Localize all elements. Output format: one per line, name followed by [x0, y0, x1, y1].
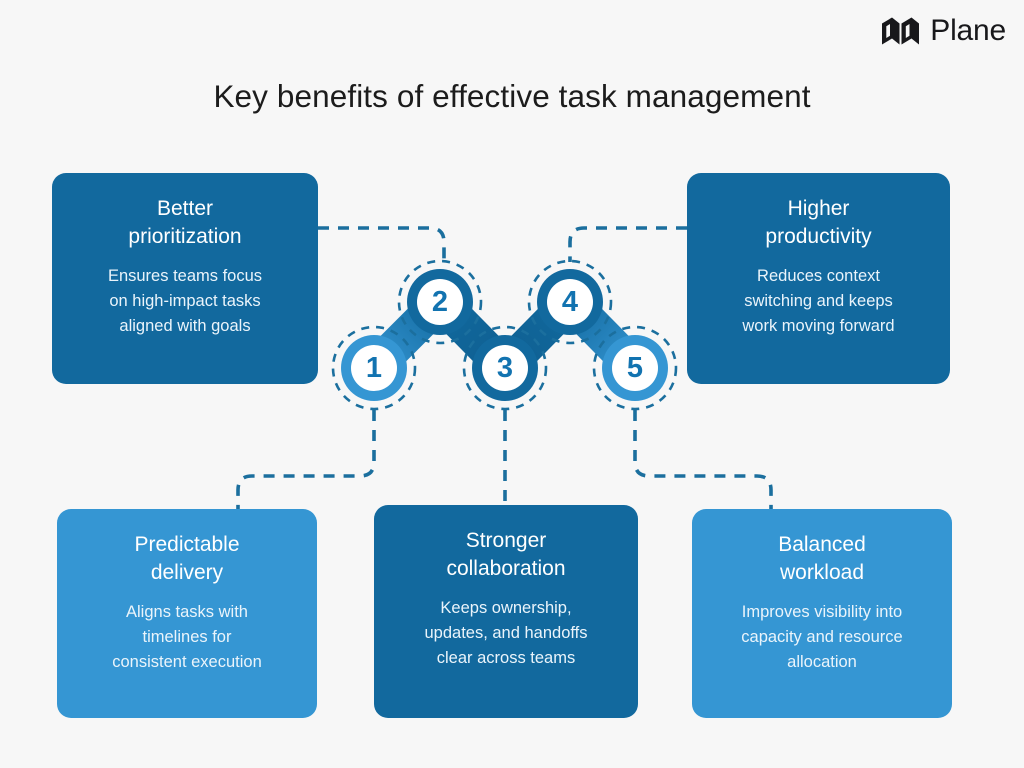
benefit-card-description: Improves visibility into capacity and re…	[741, 600, 902, 675]
step-node-5[interactable]: 5	[592, 325, 678, 411]
benefit-card-predictable-delivery[interactable]: Predictable delivery Aligns tasks with t…	[57, 509, 317, 718]
benefit-card-stronger-collaboration[interactable]: Stronger collaboration Keeps ownership, …	[374, 505, 638, 718]
benefit-card-description: Aligns tasks with timelines for consiste…	[112, 600, 262, 675]
benefit-card-title: Balanced workload	[778, 531, 866, 586]
benefit-card-better-prioritization[interactable]: Better prioritization Ensures teams focu…	[52, 173, 318, 384]
benefit-card-title: Stronger collaboration	[446, 527, 565, 582]
benefit-card-higher-productivity[interactable]: Higher productivity Reduces context swit…	[687, 173, 950, 384]
benefit-card-balanced-workload[interactable]: Balanced workload Improves visibility in…	[692, 509, 952, 718]
benefit-card-description: Ensures teams focus on high-impact tasks…	[108, 264, 262, 339]
benefit-card-title: Better prioritization	[128, 195, 241, 250]
benefit-card-title: Higher productivity	[765, 195, 871, 250]
benefit-card-title: Predictable delivery	[134, 531, 239, 586]
infographic-canvas: Plane Key benefits of effective task man…	[0, 0, 1024, 768]
benefit-card-description: Reduces context switching and keeps work…	[742, 264, 894, 339]
benefit-card-description: Keeps ownership, updates, and handoffs c…	[424, 596, 587, 671]
